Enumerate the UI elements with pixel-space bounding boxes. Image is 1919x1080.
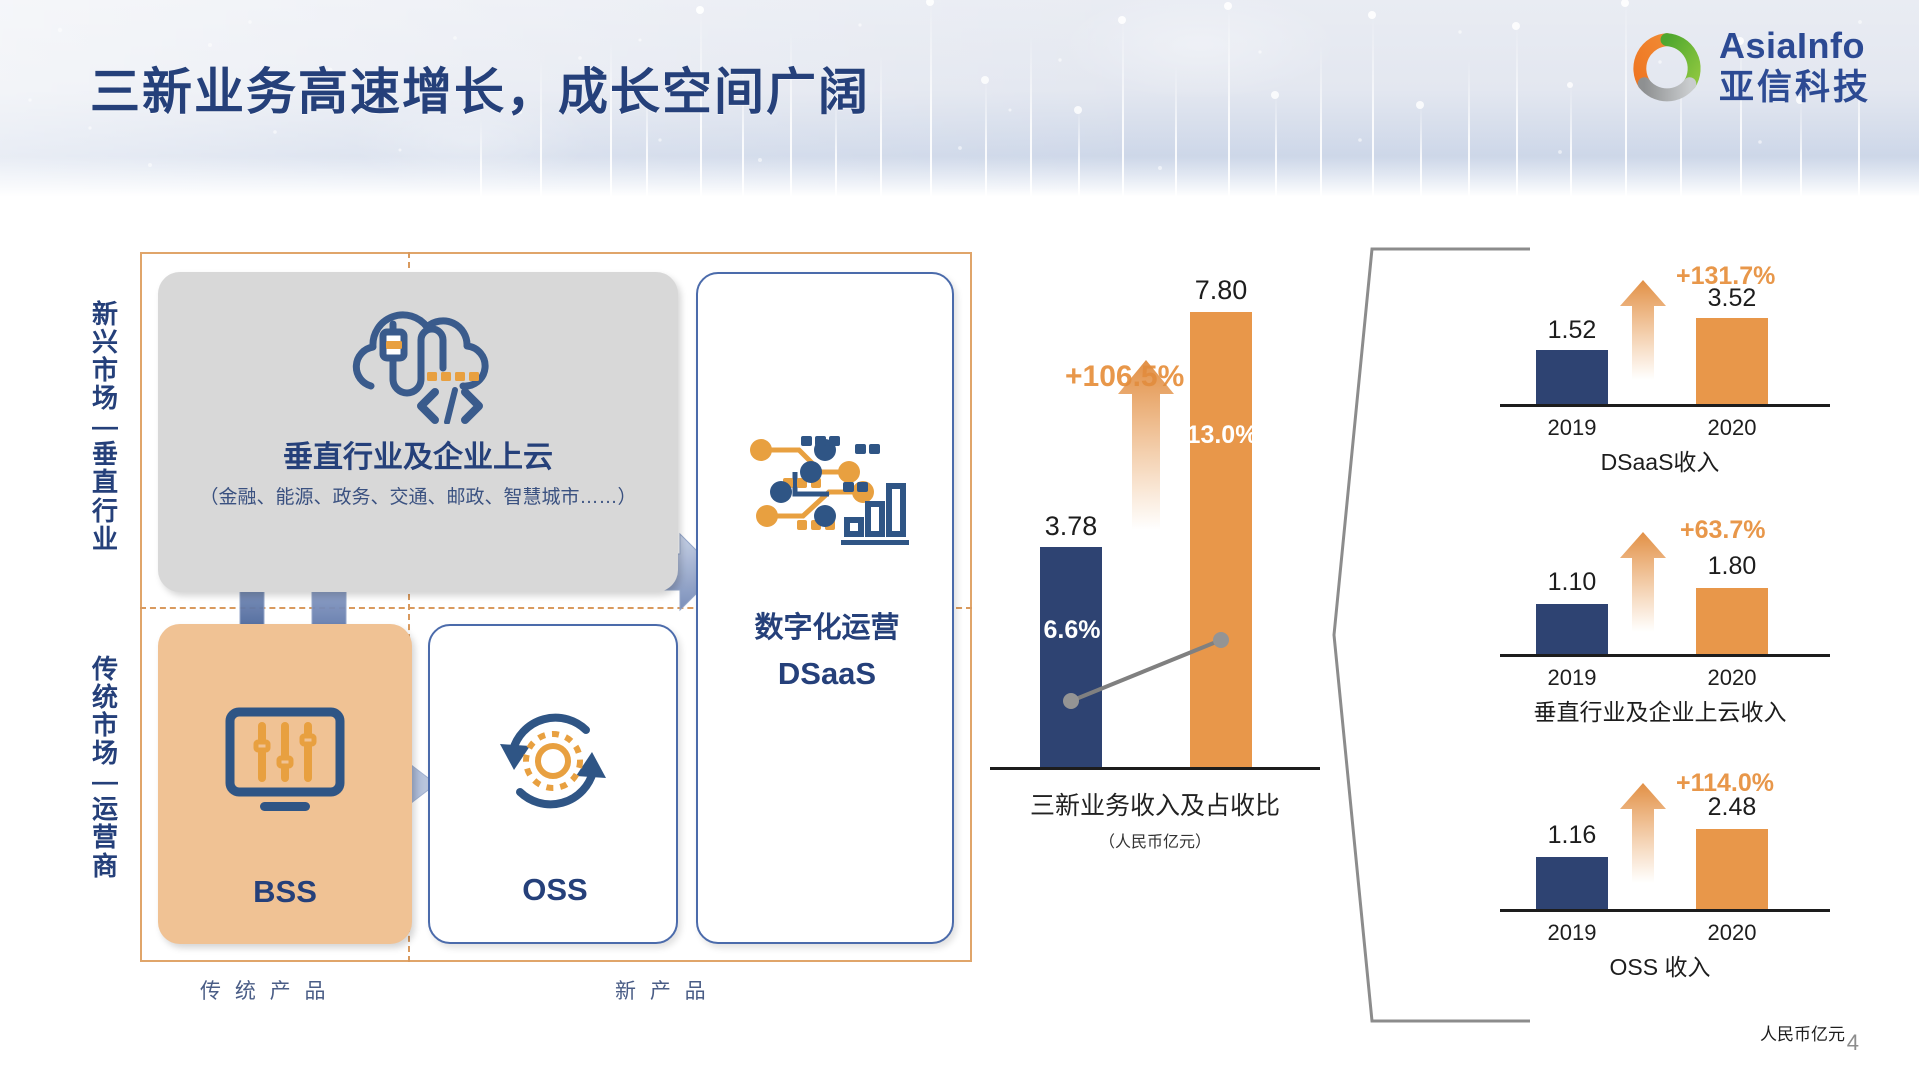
main-chart-bar-2019 (1040, 547, 1102, 767)
page-title: 三新业务高速增长，成长空间广阔 (90, 52, 870, 124)
matrix-card-oss-title: OSS (430, 872, 680, 908)
oss-chart-bar-2020 (1696, 829, 1768, 909)
main-chart-ratio-2020: 13.0% (1182, 421, 1262, 450)
vertical-cloud-chart-caption: 垂直行业及企业上云收入 (1480, 693, 1840, 727)
main-chart-unit: （人民币亿元） (950, 828, 1360, 852)
main-revenue-chart: +106.5% 3.78 7.80 6.6% 13.0% 三新业务收入及占收比 … (990, 380, 1320, 830)
vertical-cloud-chart-growth-label: +63.7% (1680, 516, 1766, 545)
oss-chart-year-2020: 2020 (1682, 920, 1782, 946)
vertical-cloud-chart-bar-2020 (1696, 588, 1768, 654)
dsaas-chart-bar-2019 (1536, 350, 1608, 404)
dsaas-chart-value-2020: 3.52 (1682, 284, 1782, 313)
dsaas-chart-year-2019: 2019 (1522, 415, 1622, 441)
cloud-usb-code-icon (343, 294, 493, 424)
page-number: 4 (1847, 1030, 1859, 1056)
vertical-cloud-chart-axis-line (1500, 654, 1830, 657)
vertical-cloud-chart-value-2019: 1.10 (1522, 568, 1622, 597)
product-market-matrix: 垂直行业及企业上云 （金融、能源、政务、交通、邮政、智慧城市……） BSS (140, 252, 972, 962)
vertical-cloud-growth-arrow-icon (1620, 532, 1666, 632)
dsaas-growth-arrow-icon (1620, 280, 1666, 380)
matrix-card-vertical-cloud-subtitle: （金融、能源、政务、交通、邮政、智慧城市……） (158, 482, 678, 509)
dsaas-chart-value-2019: 1.52 (1522, 316, 1622, 345)
main-chart-caption: 三新业务收入及占收比 (950, 786, 1360, 822)
matrix-card-bss-title: BSS (158, 874, 412, 910)
oss-growth-arrow-icon (1620, 783, 1666, 883)
main-chart-value-2020: 7.80 (1186, 275, 1256, 306)
network-chart-icon (737, 424, 913, 554)
matrix-card-vertical-cloud[interactable]: 垂直行业及企业上云 （金融、能源、政务、交通、邮政、智慧城市……） (158, 272, 678, 592)
breakdown-panel-unit-note: 人民币亿元 (1760, 1020, 1845, 1045)
dsaas-chart-caption: DSaaS收入 (1480, 443, 1840, 477)
matrix-card-dsaas-title-en: DSaaS (698, 656, 956, 692)
breakdown-panel: +131.7% 1.52 3.52 2019 2020 DSaaS收入 +63.… (1330, 245, 1910, 1025)
banner-bottom-fade (0, 156, 1919, 200)
oss-chart-bar-2019 (1536, 857, 1608, 909)
gear-refresh-icon (488, 698, 618, 824)
matrix-card-dsaas[interactable]: 数字化运营 DSaaS (696, 272, 954, 944)
oss-chart-value-2019: 1.16 (1522, 821, 1622, 850)
matrix-card-vertical-cloud-title: 垂直行业及企业上云 (158, 432, 678, 476)
main-chart-axis-line (990, 767, 1320, 770)
dsaas-revenue-chart: +131.7% 1.52 3.52 2019 2020 DSaaS收入 (1480, 270, 1840, 485)
oss-chart-year-2019: 2019 (1522, 920, 1622, 946)
matrix-y-axis-top-label: 新兴市场—垂直行业 (86, 300, 124, 553)
monitor-sliders-icon (220, 702, 350, 822)
oss-chart-caption: OSS 收入 (1480, 948, 1840, 982)
dsaas-chart-year-2020: 2020 (1682, 415, 1782, 441)
matrix-x-axis-left-label: 传 统 产 品 (200, 975, 330, 1005)
matrix-card-bss[interactable]: BSS (158, 624, 412, 944)
logo-text-cn: 亚信科技 (1719, 70, 1871, 105)
main-chart-ratio-2019: 6.6% (1032, 616, 1112, 645)
main-chart-value-2019: 3.78 (1036, 511, 1106, 542)
matrix-card-oss[interactable]: OSS (428, 624, 678, 944)
vertical-cloud-chart-year-2020: 2020 (1682, 665, 1782, 691)
dsaas-chart-bar-2020 (1696, 318, 1768, 404)
logo-text-en: AsiaInfo (1719, 28, 1871, 64)
vertical-cloud-revenue-chart: +63.7% 1.10 1.80 2019 2020 垂直行业及企业上云收入 (1480, 520, 1840, 735)
main-chart-growth-arrow-icon (1118, 360, 1174, 530)
matrix-x-axis-right-label: 新 产 品 (615, 975, 710, 1005)
main-chart-bar-2020 (1190, 312, 1252, 767)
vertical-cloud-chart-bar-2019 (1536, 604, 1608, 654)
vertical-cloud-chart-year-2019: 2019 (1522, 665, 1622, 691)
brand-logo: AsiaInfo 亚信科技 (1629, 28, 1871, 105)
oss-chart-axis-line (1500, 909, 1830, 912)
vertical-cloud-chart-value-2020: 1.80 (1682, 552, 1782, 581)
dsaas-chart-axis-line (1500, 404, 1830, 407)
matrix-y-axis-bottom-label: 传统市场—运营商 (86, 655, 124, 880)
header-banner: 三新业务高速增长，成长空间广阔 AsiaInfo 亚信 (0, 0, 1919, 200)
matrix-card-dsaas-title-cn: 数字化运营 (698, 604, 956, 646)
oss-chart-value-2020: 2.48 (1682, 793, 1782, 822)
tricolor-ring-icon (1629, 29, 1705, 105)
oss-revenue-chart: +114.0% 1.16 2.48 2019 2020 OSS 收入 (1480, 775, 1840, 990)
